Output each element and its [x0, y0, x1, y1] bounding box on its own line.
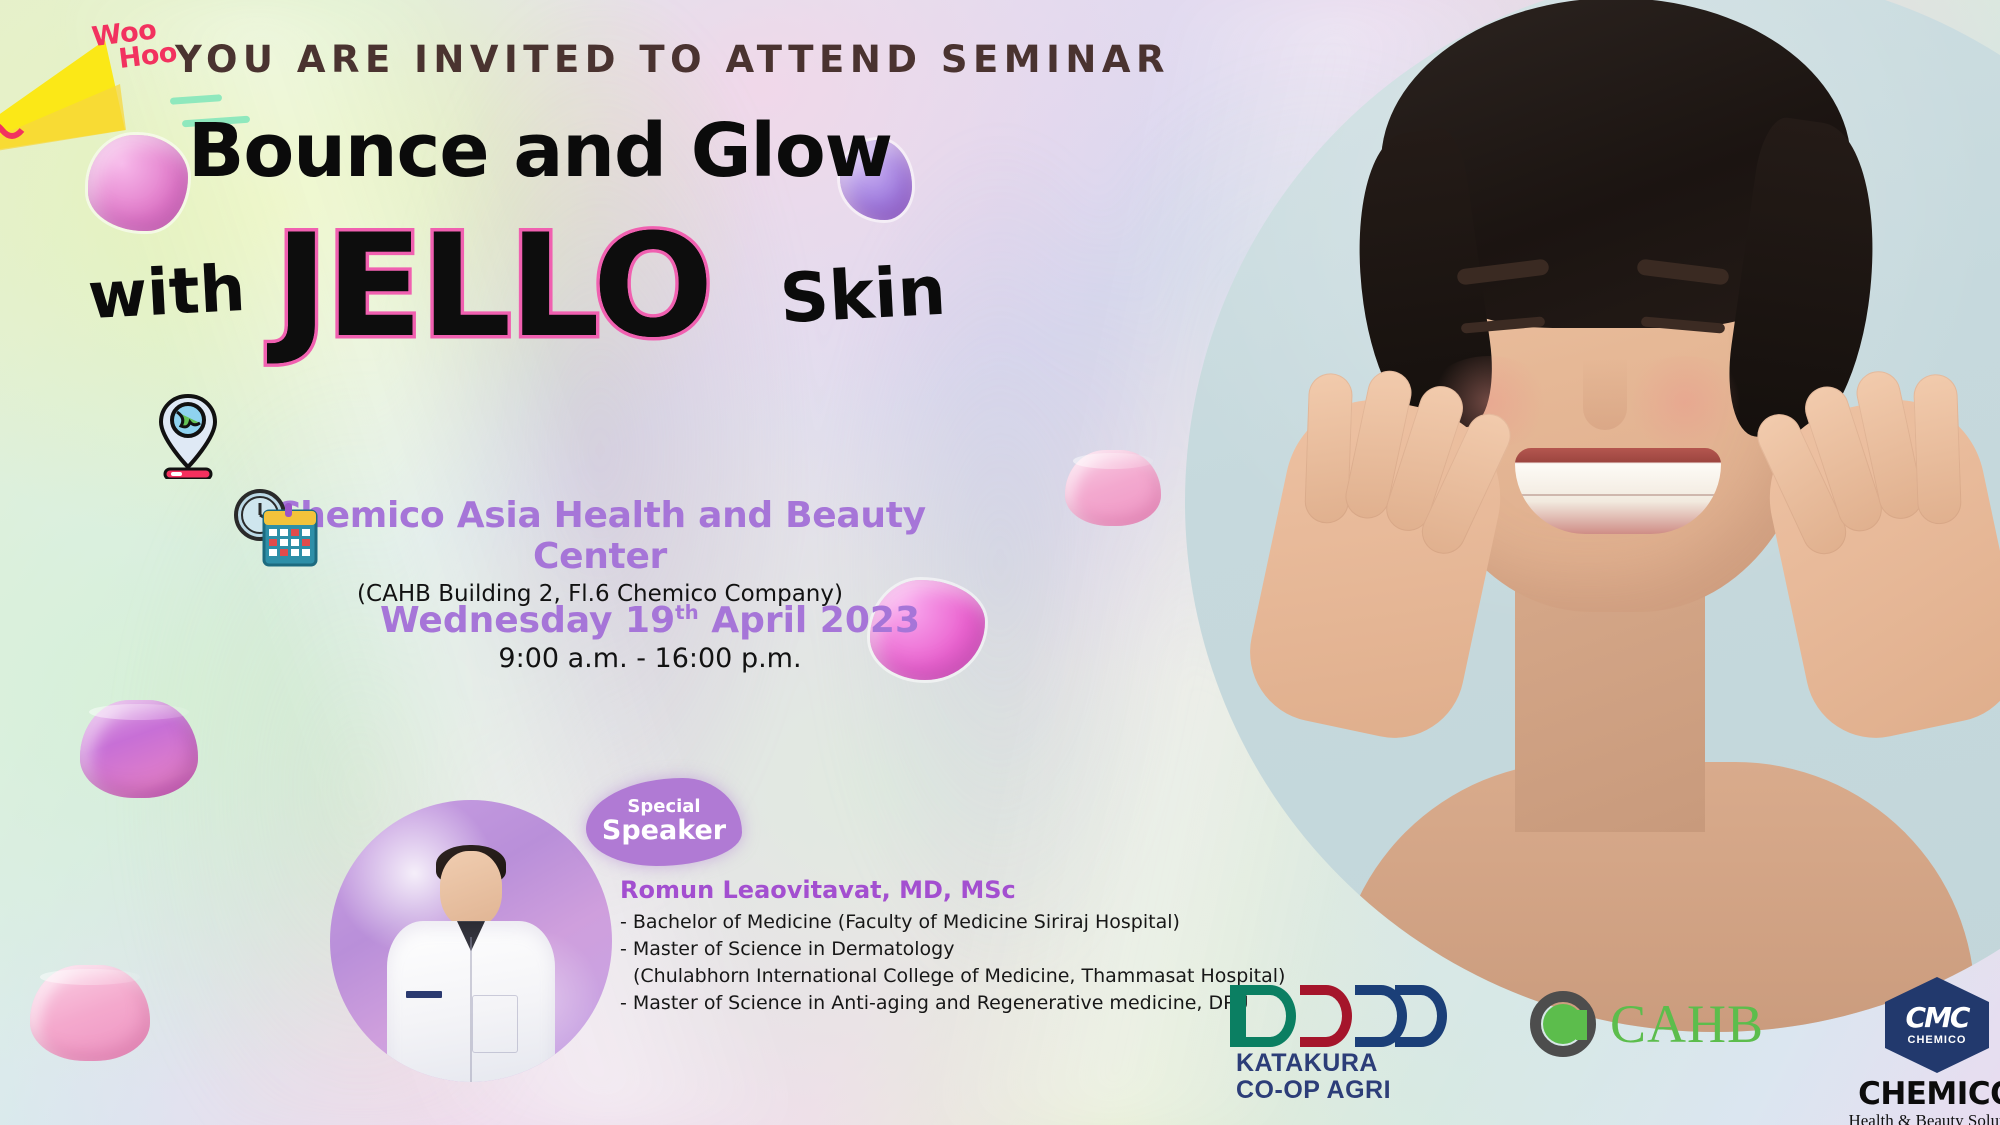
logo-katakura: KATAKURA CO-OP AGRI: [1230, 985, 1435, 1103]
chemico-hexagon-icon: CMC CHEMICO: [1885, 977, 1989, 1073]
title-line-two: with JELLO JELLO Skin: [60, 212, 960, 352]
badge-line-one: Special: [627, 798, 700, 816]
event-time: 9:00 a.m. - 16:00 p.m.: [300, 643, 1000, 674]
badge-line-two: Speaker: [602, 816, 726, 846]
chemico-mark-cmc: CMC: [1906, 1004, 1969, 1032]
event-date-suffix: April 2023: [699, 600, 920, 641]
katakura-mark-icon: [1230, 985, 1435, 1047]
jelly-mold-pink-small-icon: [1065, 450, 1161, 526]
jelly-mold-pink-icon: [30, 965, 150, 1061]
cahb-wordmark: CAHB: [1610, 993, 1764, 1055]
jelly-mold-purple-icon: [80, 700, 198, 798]
event-date: Wednesday 19th April 2023: [300, 600, 1000, 641]
cahb-circle-icon: [1530, 991, 1596, 1057]
title-word-skin: Skin: [778, 252, 948, 340]
chemico-wordmark: CHEMICO: [1842, 1076, 2000, 1112]
logo-cahb: CAHB: [1530, 991, 1764, 1057]
title-word-with: with: [86, 252, 247, 334]
speaker-credential: - Bachelor of Medicine (Faculty of Medic…: [620, 909, 1160, 936]
partner-logos: KATAKURA CO-OP AGRI CAHB CMC CHEMICO CHE…: [1230, 985, 1970, 1110]
speaker-portrait: [330, 800, 612, 1082]
venue-name: Chemico Asia Health and Beauty Center: [205, 495, 995, 577]
event-date-prefix: Wednesday 19: [380, 600, 675, 641]
speaker-credential: (Chulabhorn International College of Med…: [620, 963, 1160, 990]
event-date-ordinal: th: [675, 601, 699, 624]
location-pin-globe-icon: [155, 393, 221, 479]
seminar-poster: Woo Hoo YOU ARE INVITED TO ATTEND SEMINA…: [0, 0, 2000, 1125]
venue-block: Chemico Asia Health and Beauty Center (C…: [205, 495, 995, 607]
title-line-one: Bounce and Glow: [150, 108, 930, 194]
logo-chemico: CMC CHEMICO CHEMICO Health & Beauty Solu…: [1842, 977, 2000, 1125]
kicker-text: YOU ARE INVITED TO ATTEND SEMINAR: [175, 38, 935, 81]
speaker-credential: - Master of Science in Dermatology: [620, 936, 1160, 963]
katakura-line-one: KATAKURA: [1236, 1050, 1435, 1077]
speaker-info: Romun Leaovitavat, MD, MSc - Bachelor of…: [620, 876, 1160, 1017]
chemico-tagline: Health & Beauty Solution: [1842, 1111, 2000, 1125]
katakura-line-two: CO-OP AGRI: [1236, 1077, 1435, 1104]
title-word-jello: JELLO: [275, 204, 711, 369]
datetime-block: Wednesday 19th April 2023 9:00 a.m. - 16…: [300, 600, 1000, 674]
clock-calendar-icon: [230, 487, 322, 569]
chemico-mark-subtext: CHEMICO: [1908, 1034, 1967, 1046]
speaker-name: Romun Leaovitavat, MD, MSc: [620, 876, 1160, 904]
speaker-credential: - Master of Science in Anti-aging and Re…: [620, 990, 1160, 1017]
